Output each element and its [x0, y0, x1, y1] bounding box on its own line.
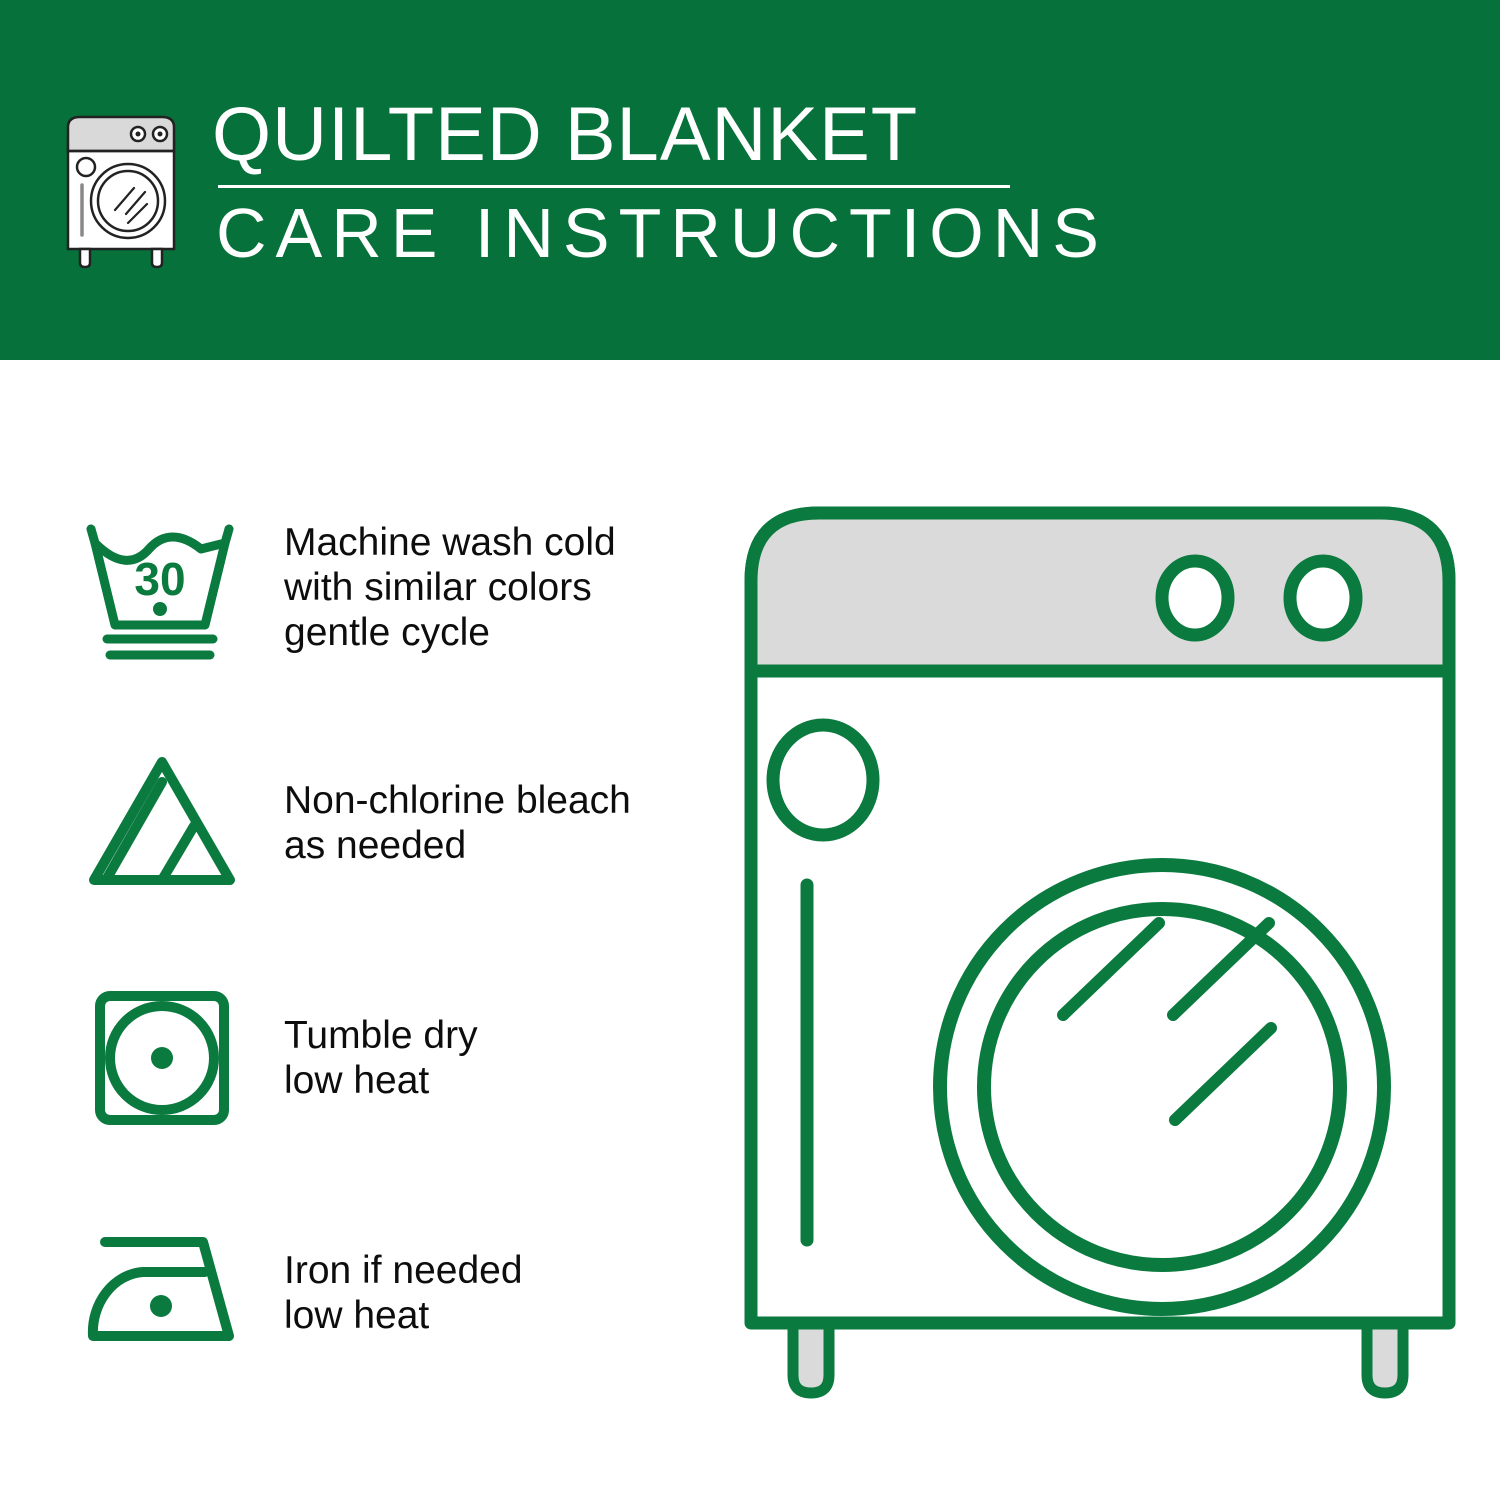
title-divider — [218, 185, 1010, 188]
header-content: QUILTED BLANKET CARE INSTRUCTIONS — [60, 95, 1108, 274]
washing-machine-icon — [60, 109, 190, 274]
washer-door-inner — [984, 909, 1340, 1265]
wash-temperature-value: 30 — [134, 553, 185, 605]
care-label-iron: Iron if needed low heat — [284, 1248, 523, 1338]
iron-low-heat-icon — [62, 1228, 262, 1358]
care-row-wash: 30 Machine wash cold with similar colors… — [62, 500, 722, 675]
washer-knob-2 — [1290, 561, 1356, 635]
page-title: QUILTED BLANKET — [212, 95, 1108, 175]
care-row-bleach: Non-chlorine bleach as needed — [62, 735, 722, 910]
header-banner: QUILTED BLANKET CARE INSTRUCTIONS — [0, 0, 1500, 360]
care-label-bleach: Non-chlorine bleach as needed — [284, 778, 631, 868]
care-label-tumble-dry: Tumble dry low heat — [284, 1013, 478, 1103]
care-row-tumble-dry: Tumble dry low heat — [62, 970, 722, 1145]
care-label-wash: Machine wash cold with similar colors ge… — [284, 520, 616, 655]
wash-tub-30-gentle-icon: 30 — [62, 513, 262, 663]
care-instruction-list: 30 Machine wash cold with similar colors… — [62, 500, 722, 1380]
non-chlorine-bleach-triangle-icon — [62, 748, 262, 898]
tumble-dry-low-icon — [62, 983, 262, 1133]
washer-knob-1 — [1162, 561, 1228, 635]
page-subtitle: CARE INSTRUCTIONS — [216, 196, 1108, 270]
washer-dial — [773, 725, 873, 835]
header-text-block: QUILTED BLANKET CARE INSTRUCTIONS — [212, 95, 1108, 270]
care-row-iron: Iron if needed low heat — [62, 1205, 722, 1380]
front-load-washing-machine-illustration — [735, 495, 1465, 1425]
